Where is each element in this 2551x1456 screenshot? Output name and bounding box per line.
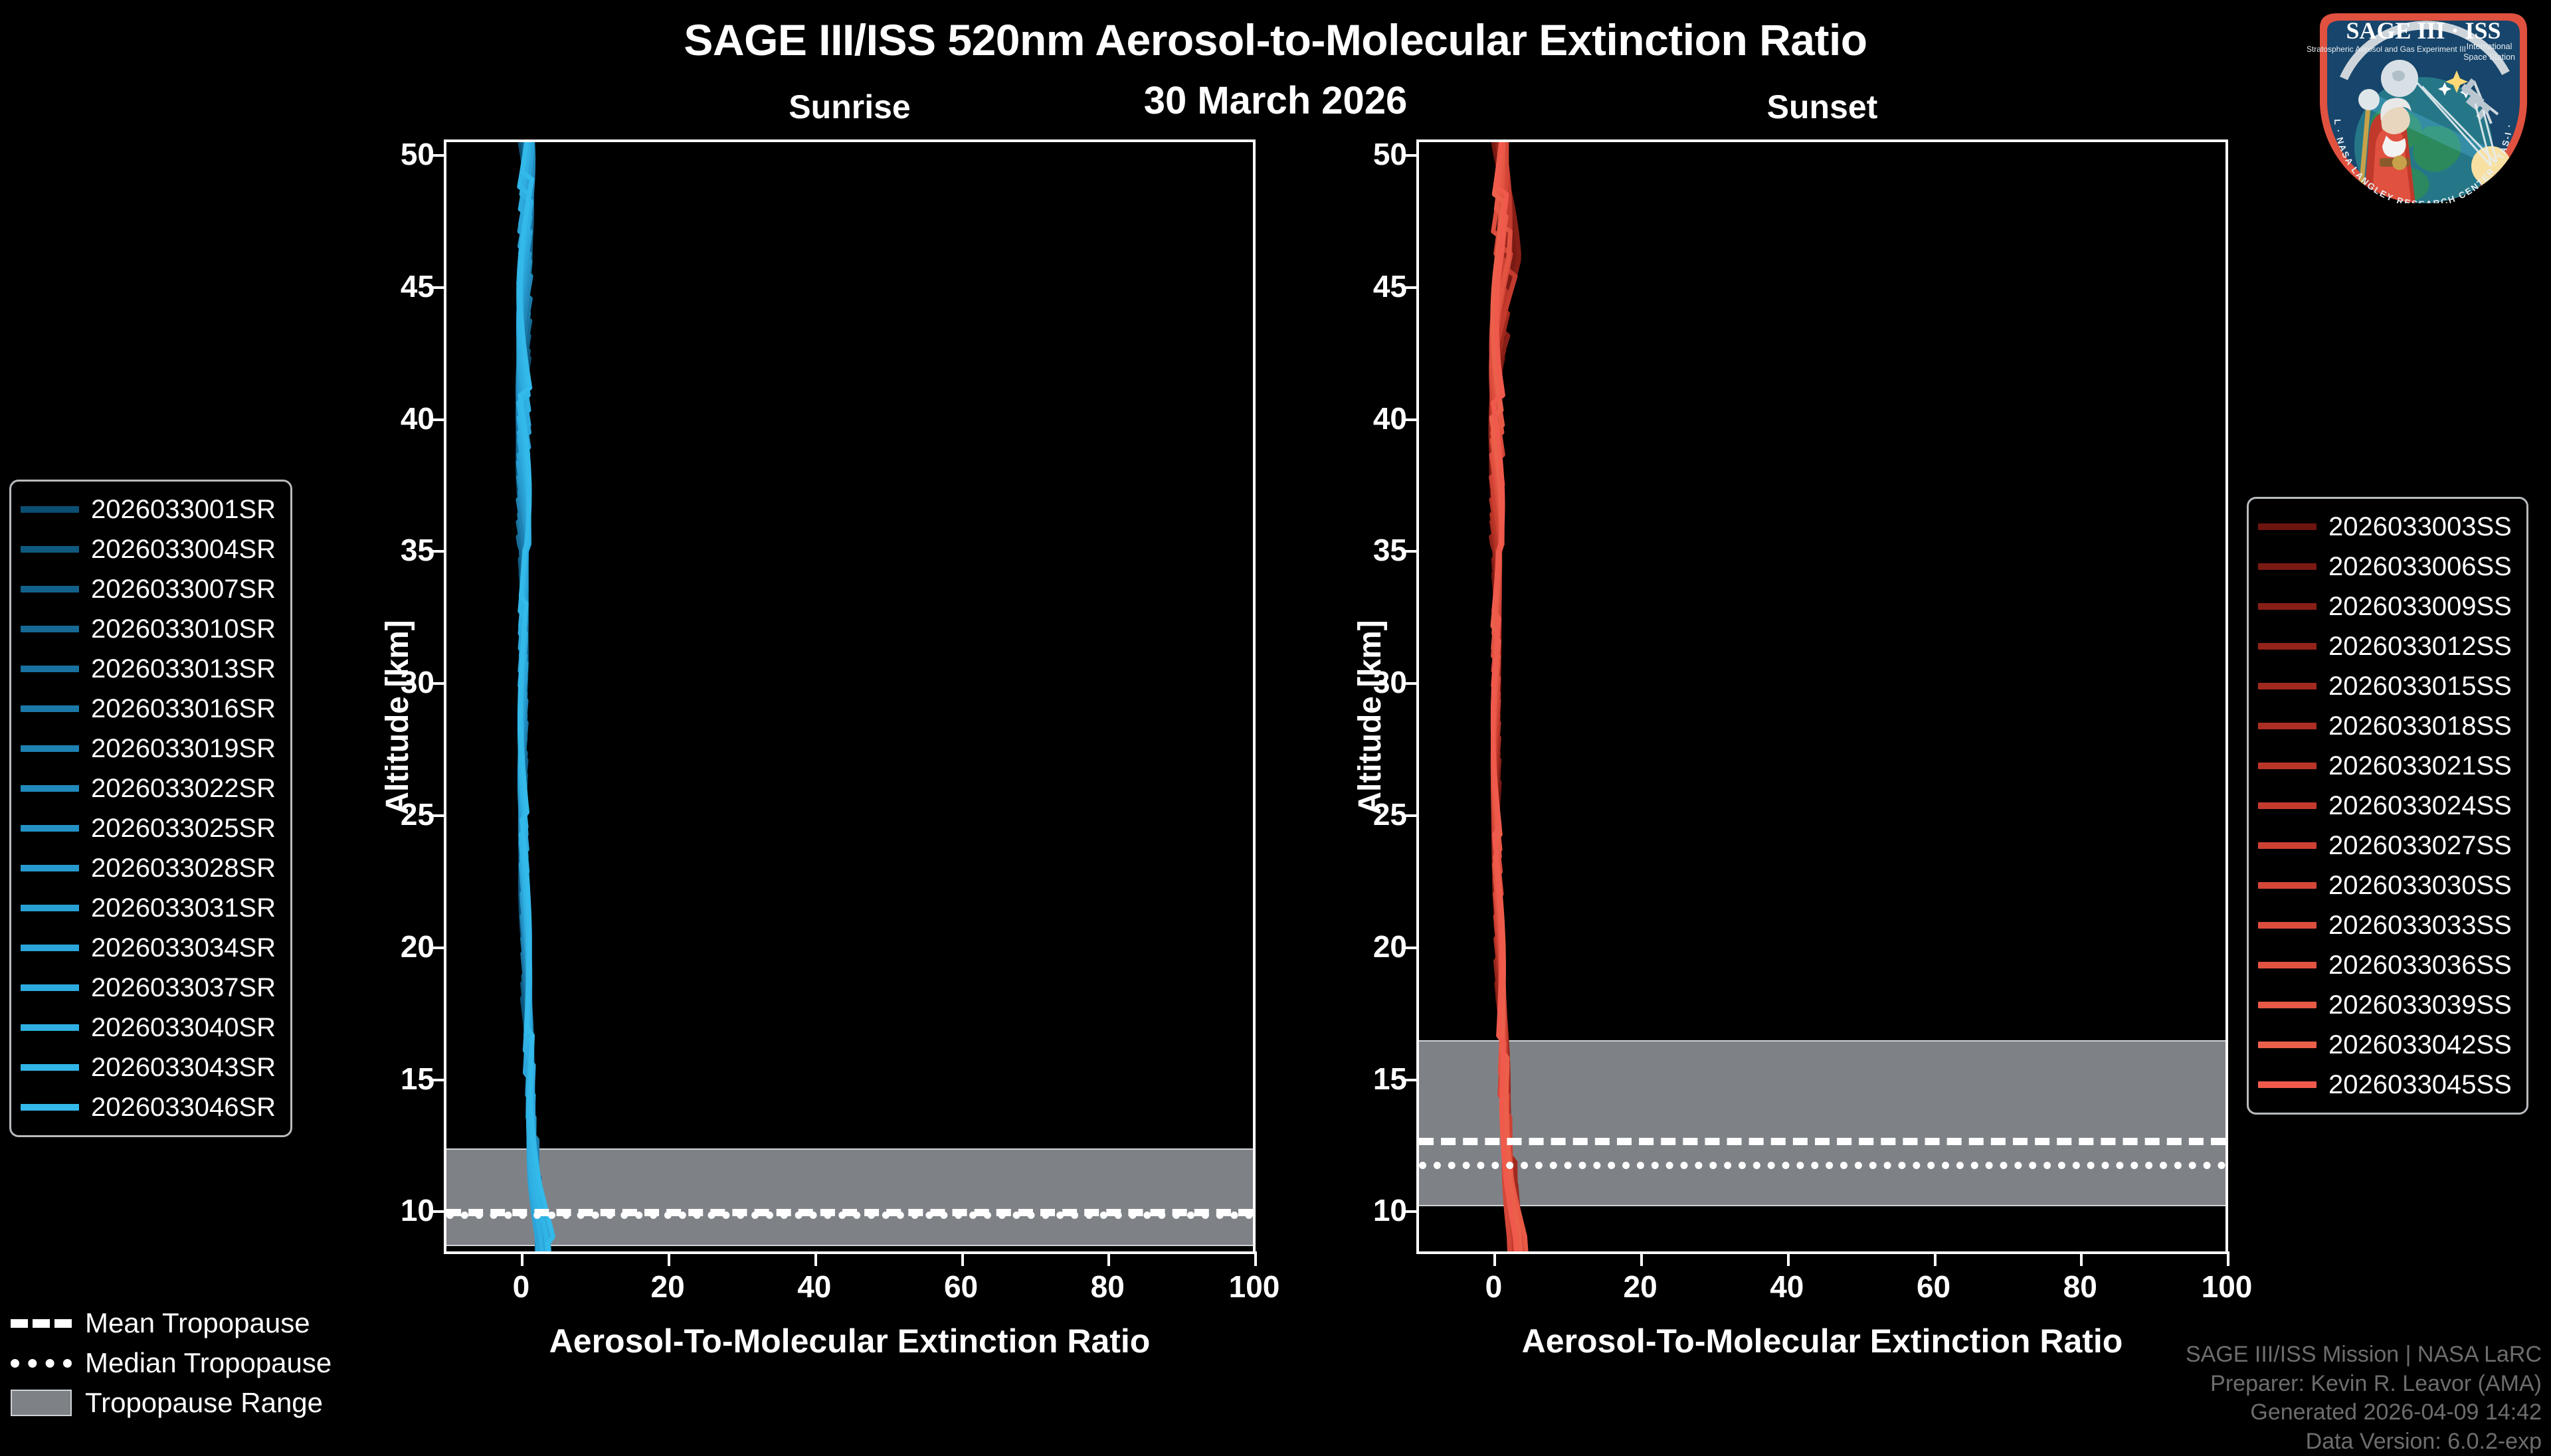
x-axis-tick bbox=[1254, 1251, 1257, 1266]
legend-item-label: 2026033019SR bbox=[91, 734, 276, 764]
legend-item[interactable]: 2026033027SS bbox=[2258, 826, 2512, 865]
legend-item-label: 2026033015SS bbox=[2328, 672, 2512, 701]
y-axis-tick-label: 10 bbox=[401, 1192, 434, 1228]
y-axis-tick-label: 15 bbox=[401, 1061, 434, 1097]
dashed-line-icon bbox=[11, 1319, 72, 1328]
legend-item[interactable]: 2026033030SS bbox=[2258, 865, 2512, 905]
plot-area-sunrise bbox=[446, 142, 1253, 1251]
legend-item-median-tropopause: Median Tropopause bbox=[11, 1343, 331, 1383]
logo-subtitle-left: Stratospheric Aerosol and Gas Experiment… bbox=[2307, 45, 2466, 54]
legend-color-swatch bbox=[21, 785, 79, 792]
legend-color-swatch bbox=[2258, 643, 2316, 650]
legend-item[interactable]: 2026033021SS bbox=[2258, 746, 2512, 786]
legend-color-swatch bbox=[21, 984, 79, 991]
legend-item-label: 2026033027SS bbox=[2328, 831, 2512, 861]
legend-item-label: 2026033039SS bbox=[2328, 990, 2512, 1020]
x-axis-tick bbox=[814, 1251, 817, 1266]
legend-color-swatch bbox=[2258, 1042, 2316, 1048]
legend-color-swatch bbox=[21, 705, 79, 712]
legend-item-label: 2026033022SR bbox=[91, 774, 276, 804]
x-axis-tick bbox=[2227, 1251, 2229, 1266]
legend-item-label: 2026033018SS bbox=[2328, 711, 2512, 741]
x-axis-tick-label: 20 bbox=[1623, 1269, 1657, 1305]
legend-item[interactable]: 2026033039SS bbox=[2258, 985, 2512, 1025]
legend-color-swatch bbox=[21, 905, 79, 911]
legend-item-label: 2026033010SR bbox=[91, 614, 276, 644]
y-axis-tick-label: 40 bbox=[401, 401, 434, 436]
credit-line-mission: SAGE III/ISS Mission | NASA LaRC bbox=[2186, 1340, 2542, 1370]
x-axis-tick-label: 40 bbox=[797, 1269, 831, 1305]
credit-line-generated: Generated 2026-04-09 14:42 bbox=[2186, 1398, 2542, 1427]
x-axis-tick-label: 40 bbox=[1770, 1269, 1804, 1305]
plot-sunset: 101520253035404550020406080100 bbox=[1416, 139, 2228, 1254]
x-axis-tick-label: 80 bbox=[1091, 1269, 1125, 1305]
x-axis-tick bbox=[1787, 1251, 1790, 1266]
legend-item[interactable]: 2026033037SR bbox=[21, 968, 276, 1008]
y-axis-tick-label: 50 bbox=[1373, 136, 1407, 172]
legend-item-label: 2026033030SS bbox=[2328, 871, 2512, 901]
legend-item[interactable]: 2026033019SR bbox=[21, 729, 276, 769]
y-axis-tick-label: 15 bbox=[1373, 1061, 1407, 1097]
legend-color-swatch bbox=[21, 666, 79, 672]
legend-item[interactable]: 2026033034SR bbox=[21, 928, 276, 968]
x-axis-tick bbox=[1493, 1251, 1496, 1266]
legend-color-swatch bbox=[21, 1104, 79, 1111]
legend-item[interactable]: 2026033046SR bbox=[21, 1087, 276, 1127]
legend-color-swatch bbox=[2258, 802, 2316, 809]
median-tropopause-line bbox=[1419, 1162, 2225, 1169]
legend-item[interactable]: 2026033042SS bbox=[2258, 1025, 2512, 1065]
legend-color-swatch bbox=[21, 506, 79, 513]
legend-item[interactable]: 2026033001SR bbox=[21, 490, 276, 529]
legend-label-tropopause-range: Tropopause Range bbox=[85, 1387, 323, 1419]
legend-item[interactable]: 2026033022SR bbox=[21, 769, 276, 808]
legend-tropopause: Mean Tropopause Median Tropopause Tropop… bbox=[11, 1303, 331, 1423]
legend-sunrise[interactable]: 2026033001SR2026033004SR2026033007SR2026… bbox=[9, 480, 292, 1137]
legend-item-label: 2026033036SS bbox=[2328, 951, 2512, 980]
y-axis-tick-label: 40 bbox=[1373, 401, 1407, 436]
legend-color-swatch bbox=[2258, 1002, 2316, 1008]
sage-iii-iss-mission-patch-logo: BALL · NASA LANGLEY RESEARCH CENTER · TA… bbox=[2300, 4, 2547, 203]
legend-color-swatch bbox=[2258, 563, 2316, 570]
legend-item-label: 2026033012SS bbox=[2328, 632, 2512, 662]
legend-label-mean-tropopause: Mean Tropopause bbox=[85, 1307, 310, 1339]
legend-item[interactable]: 2026033031SR bbox=[21, 888, 276, 928]
legend-color-swatch bbox=[21, 745, 79, 752]
legend-color-swatch bbox=[2258, 882, 2316, 889]
legend-item[interactable]: 2026033025SR bbox=[21, 808, 276, 848]
credit-line-preparer: Preparer: Kevin R. Leavor (AMA) bbox=[2186, 1370, 2542, 1399]
x-axis-tick bbox=[961, 1251, 964, 1266]
x-axis-tick-label: 0 bbox=[513, 1269, 530, 1305]
panel-title-sunset: Sunset bbox=[1416, 88, 2228, 126]
legend-item-label: 2026033009SS bbox=[2328, 592, 2512, 622]
median-tropopause-line bbox=[446, 1212, 1253, 1219]
legend-color-swatch bbox=[2258, 1081, 2316, 1088]
legend-color-swatch bbox=[21, 626, 79, 632]
y-axis-tick-label: 50 bbox=[401, 136, 434, 172]
legend-item[interactable]: 2026033004SR bbox=[21, 529, 276, 569]
legend-color-swatch bbox=[21, 865, 79, 871]
x-axis-label-sunset: Aerosol-To-Molecular Extinction Ratio bbox=[1416, 1322, 2228, 1360]
x-axis-tick bbox=[1640, 1251, 1643, 1266]
legend-item[interactable]: 2026033016SR bbox=[21, 689, 276, 729]
x-axis-tick bbox=[668, 1251, 670, 1266]
legend-item-label: 2026033028SR bbox=[91, 854, 276, 883]
legend-color-swatch bbox=[21, 586, 79, 592]
legend-color-swatch bbox=[2258, 683, 2316, 689]
panel-title-sunrise: Sunrise bbox=[444, 88, 1256, 126]
legend-item[interactable]: 2026033003SS bbox=[2258, 507, 2512, 547]
y-axis-label-sunset: Altitude [km] bbox=[1352, 620, 1388, 814]
legend-item[interactable]: 2026033043SR bbox=[21, 1047, 276, 1087]
plot-area-sunset bbox=[1419, 142, 2225, 1251]
x-axis-tick-label: 20 bbox=[650, 1269, 684, 1305]
legend-item-label: 2026033025SR bbox=[91, 814, 276, 844]
legend-item[interactable]: 2026033007SR bbox=[21, 569, 276, 609]
legend-item[interactable]: 2026033009SS bbox=[2258, 587, 2512, 626]
legend-item-label: 2026033021SS bbox=[2328, 751, 2512, 781]
legend-color-swatch bbox=[2258, 962, 2316, 968]
credit-line-version: Data Version: 6.0.2-exp bbox=[2186, 1427, 2542, 1456]
legend-item-label: 2026033033SS bbox=[2328, 911, 2512, 941]
legend-item-label: 2026033034SR bbox=[91, 933, 276, 963]
legend-item[interactable]: 2026033010SR bbox=[21, 609, 276, 649]
legend-item[interactable]: 2026033040SR bbox=[21, 1008, 276, 1047]
legend-item[interactable]: 2026033012SS bbox=[2258, 626, 2512, 666]
credit-block: SAGE III/ISS Mission | NASA LaRC Prepare… bbox=[2186, 1340, 2542, 1456]
series-traces bbox=[446, 142, 1253, 1251]
logo-subtitle-right-1: International bbox=[2467, 42, 2512, 51]
x-axis-tick-label: 0 bbox=[1485, 1269, 1503, 1305]
x-axis-tick bbox=[521, 1251, 523, 1266]
legend-color-swatch bbox=[2258, 523, 2316, 530]
plot-sunrise: 101520253035404550020406080100 bbox=[444, 139, 1256, 1254]
legend-item[interactable]: 2026033036SS bbox=[2258, 945, 2512, 985]
y-axis-tick-label: 20 bbox=[1373, 929, 1407, 964]
y-axis-tick-label: 35 bbox=[401, 532, 434, 568]
legend-item-label: 2026033045SS bbox=[2328, 1070, 2512, 1100]
legend-item-label: 2026033003SS bbox=[2328, 512, 2512, 542]
mission-patch-icon: BALL · NASA LANGLEY RESEARCH CENTER · TA… bbox=[2300, 4, 2547, 203]
legend-item-label: 2026033016SR bbox=[91, 694, 276, 724]
legend-color-swatch bbox=[2258, 603, 2316, 610]
legend-item-mean-tropopause: Mean Tropopause bbox=[11, 1303, 331, 1343]
legend-color-swatch bbox=[21, 825, 79, 832]
x-axis-tick-label: 100 bbox=[1229, 1269, 1280, 1305]
legend-color-swatch bbox=[21, 546, 79, 553]
legend-item[interactable]: 2026033018SS bbox=[2258, 706, 2512, 746]
legend-item-label: 2026033004SR bbox=[91, 535, 276, 565]
page-title: SAGE III/ISS 520nm Aerosol-to-Molecular … bbox=[0, 15, 2551, 65]
legend-item-label: 2026033037SR bbox=[91, 973, 276, 1003]
legend-item-label: 2026033046SR bbox=[91, 1093, 276, 1123]
legend-item-label: 2026033031SR bbox=[91, 893, 276, 923]
y-axis-tick-label: 35 bbox=[1373, 532, 1407, 568]
legend-item[interactable]: 2026033045SS bbox=[2258, 1065, 2512, 1105]
legend-color-swatch bbox=[2258, 763, 2316, 769]
x-axis-tick-label: 100 bbox=[2202, 1269, 2253, 1305]
legend-color-swatch bbox=[2258, 842, 2316, 849]
legend-item[interactable]: 2026033013SR bbox=[21, 649, 276, 689]
logo-subtitle-right-2: Space Station bbox=[2463, 52, 2515, 62]
legend-item-label: 2026033001SR bbox=[91, 495, 276, 525]
legend-color-swatch bbox=[2258, 922, 2316, 929]
legend-item[interactable]: 2026033028SR bbox=[21, 848, 276, 888]
legend-color-swatch bbox=[21, 1024, 79, 1031]
y-axis-tick-label: 45 bbox=[1373, 268, 1407, 304]
x-axis-tick bbox=[1934, 1251, 1937, 1266]
y-axis-tick-label: 20 bbox=[401, 929, 434, 964]
legend-item-label: 2026033043SR bbox=[91, 1053, 276, 1083]
y-axis-tick-label: 45 bbox=[401, 268, 434, 304]
logo-title: SAGE III · ISS bbox=[2346, 17, 2501, 44]
legend-color-swatch bbox=[21, 1064, 79, 1071]
legend-item-label: 2026033024SS bbox=[2328, 791, 2512, 821]
legend-item-label: 2026033040SR bbox=[91, 1013, 276, 1043]
dotted-line-icon bbox=[11, 1359, 72, 1368]
legend-label-median-tropopause: Median Tropopause bbox=[85, 1347, 331, 1379]
x-axis-tick bbox=[2080, 1251, 2083, 1266]
legend-item-label: 2026033007SR bbox=[91, 575, 276, 604]
y-axis-label-sunrise: Altitude [km] bbox=[379, 620, 416, 814]
legend-item-label: 2026033013SR bbox=[91, 654, 276, 684]
x-axis-tick bbox=[1107, 1251, 1110, 1266]
filled-band-icon bbox=[11, 1390, 72, 1416]
legend-item[interactable]: 2026033006SS bbox=[2258, 547, 2512, 587]
legend-sunset[interactable]: 2026033003SS2026033006SS2026033009SS2026… bbox=[2247, 497, 2528, 1115]
mean-tropopause-line bbox=[1419, 1138, 2225, 1145]
legend-item[interactable]: 2026033033SS bbox=[2258, 905, 2512, 945]
legend-item-label: 2026033042SS bbox=[2328, 1030, 2512, 1060]
legend-color-swatch bbox=[21, 945, 79, 951]
x-axis-tick-label: 60 bbox=[944, 1269, 978, 1305]
series-traces bbox=[1419, 142, 2225, 1251]
legend-color-swatch bbox=[2258, 723, 2316, 729]
x-axis-label-sunrise: Aerosol-To-Molecular Extinction Ratio bbox=[444, 1322, 1256, 1360]
legend-item-tropopause-range: Tropopause Range bbox=[11, 1383, 331, 1423]
legend-item[interactable]: 2026033024SS bbox=[2258, 786, 2512, 826]
legend-item[interactable]: 2026033015SS bbox=[2258, 666, 2512, 706]
legend-item-label: 2026033006SS bbox=[2328, 552, 2512, 582]
x-axis-tick-label: 60 bbox=[1917, 1269, 1950, 1305]
x-axis-tick-label: 80 bbox=[2063, 1269, 2097, 1305]
y-axis-tick-label: 10 bbox=[1373, 1192, 1407, 1228]
